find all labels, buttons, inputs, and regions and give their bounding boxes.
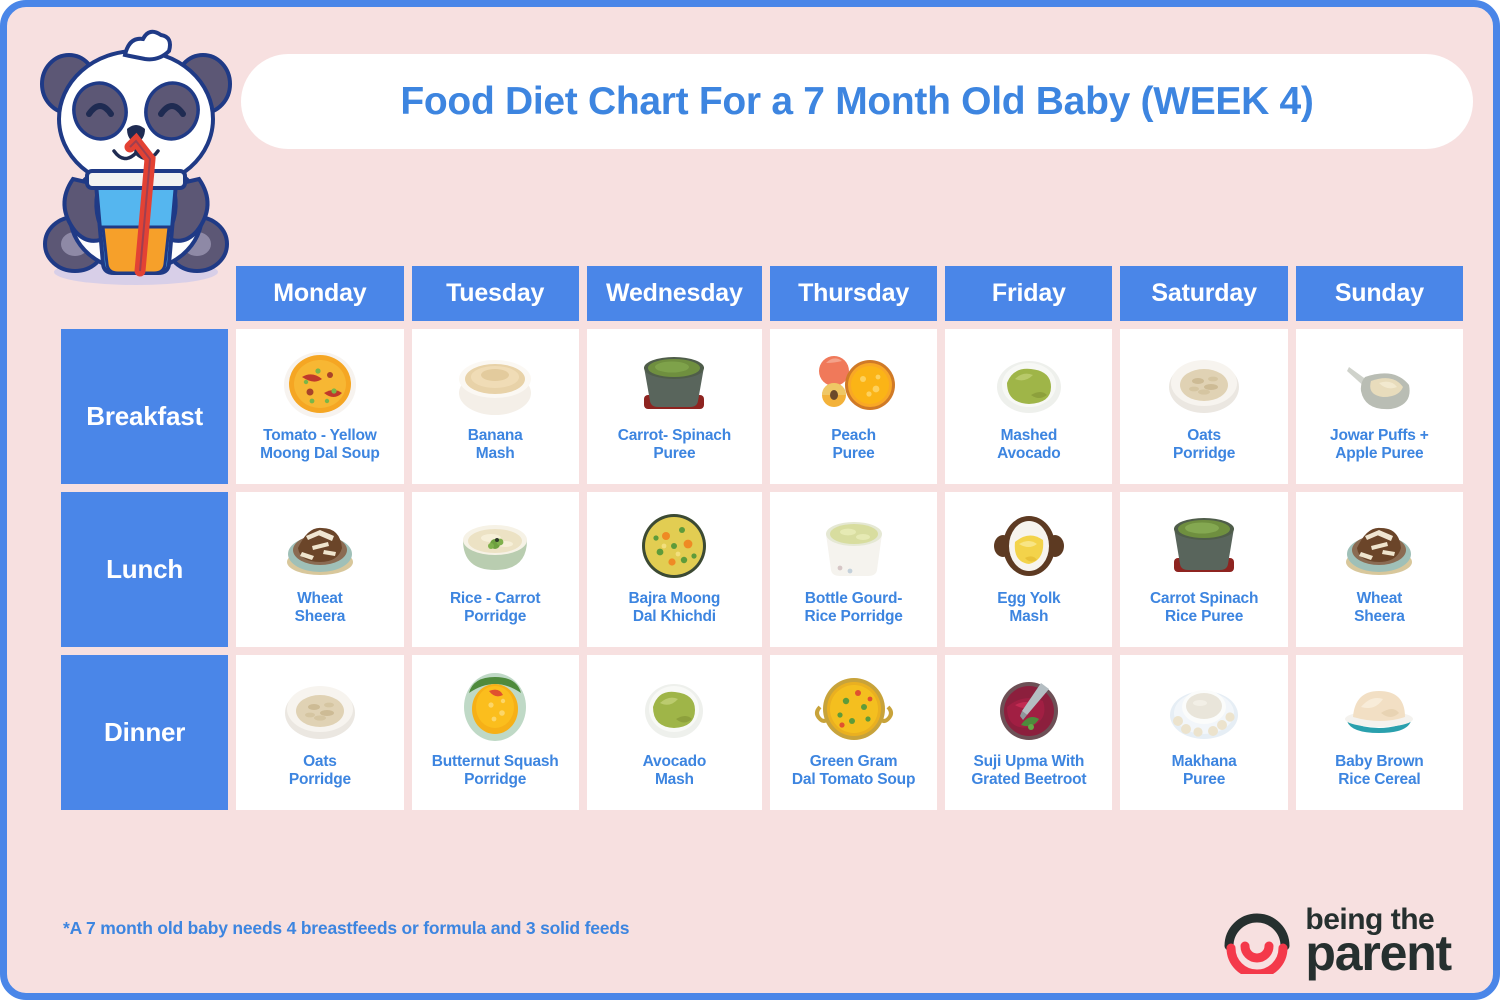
- makhana-puree-bowl-icon: [1156, 663, 1252, 751]
- footnote-text: *A 7 month old baby needs 4 breastfeeds …: [63, 918, 629, 939]
- oats-porridge-bowl-icon: [272, 663, 368, 751]
- meal-label: Peach Puree: [831, 427, 876, 464]
- column-header-label: Tuesday: [446, 279, 544, 308]
- meal-cell-breakfast-monday: Tomato - Yellow Moong Dal Soup: [236, 329, 403, 484]
- meal-cell-dinner-thursday: Green Gram Dal Tomato Soup: [770, 655, 937, 810]
- page-title-bar: Food Diet Chart For a 7 Month Old Baby (…: [241, 54, 1473, 149]
- row-header-label: Lunch: [106, 554, 183, 585]
- meal-label: Jowar Puffs + Apple Puree: [1330, 427, 1429, 464]
- meal-cell-lunch-sunday: Wheat Sheera: [1296, 492, 1463, 647]
- wheat-sheera-bowl-icon: [1331, 500, 1427, 588]
- column-header-label: Friday: [992, 279, 1066, 308]
- meal-label: Baby Brown Rice Cereal: [1335, 753, 1423, 790]
- meal-cell-breakfast-friday: Mashed Avocado: [945, 329, 1112, 484]
- table-header-row: Monday Tuesday Wednesday Thursday Friday…: [61, 266, 1463, 321]
- bottle-gourd-rice-porridge-bowl-icon: [806, 500, 902, 588]
- meal-cell-lunch-saturday: Carrot Spinach Rice Puree: [1120, 492, 1287, 647]
- meal-label: Wheat Sheera: [1354, 590, 1405, 627]
- meal-label: Makhana Puree: [1172, 753, 1237, 790]
- meal-label: Mashed Avocado: [997, 427, 1060, 464]
- avocado-mash-bowl-icon: [626, 663, 722, 751]
- column-header-saturday: Saturday: [1120, 266, 1287, 321]
- suji-upma-beetroot-bowl-icon: [981, 663, 1077, 751]
- meal-label: Oats Porridge: [1173, 427, 1235, 464]
- table-row-breakfast: Breakfast Tomato - Yellow Moong Dal Soup…: [61, 329, 1463, 484]
- meal-label: Bottle Gourd- Rice Porridge: [804, 590, 902, 627]
- meal-label: Oats Porridge: [289, 753, 351, 790]
- meal-label: Green Gram Dal Tomato Soup: [792, 753, 915, 790]
- row-header-label: Breakfast: [86, 401, 203, 432]
- meal-cell-breakfast-wednesday: Carrot- Spinach Puree: [587, 329, 762, 484]
- meal-cell-lunch-thursday: Bottle Gourd- Rice Porridge: [770, 492, 937, 647]
- meal-cell-lunch-monday: Wheat Sheera: [236, 492, 403, 647]
- column-header-monday: Monday: [236, 266, 403, 321]
- wheat-sheera-bowl-icon: [272, 500, 368, 588]
- column-header-label: Monday: [273, 279, 366, 308]
- meal-cell-dinner-sunday: Baby Brown Rice Cereal: [1296, 655, 1463, 810]
- meal-label: Egg Yolk Mash: [997, 590, 1060, 627]
- meal-cell-breakfast-tuesday: Banana Mash: [412, 329, 579, 484]
- carrot-spinach-rice-puree-bowl-icon: [1156, 500, 1252, 588]
- meal-label: Banana Mash: [468, 427, 523, 464]
- column-header-wednesday: Wednesday: [587, 266, 762, 321]
- meal-cell-lunch-wednesday: Bajra Moong Dal Khichdi: [587, 492, 762, 647]
- row-header-breakfast: Breakfast: [61, 329, 228, 484]
- meal-label: Tomato - Yellow Moong Dal Soup: [260, 427, 379, 464]
- column-header-sunday: Sunday: [1296, 266, 1463, 321]
- column-header-label: Thursday: [798, 279, 909, 308]
- page-title: Food Diet Chart For a 7 Month Old Baby (…: [400, 80, 1313, 124]
- meal-cell-breakfast-thursday: Peach Puree: [770, 329, 937, 484]
- table-row-dinner: Dinner Oats Porridge Butternut Squash Po…: [61, 655, 1463, 810]
- meal-label: Butternut Squash Porridge: [432, 753, 559, 790]
- panda-mascot-icon: [29, 29, 244, 289]
- jowar-puffs-apple-puree-spoon-icon: [1331, 337, 1427, 425]
- baby-brown-rice-cereal-bowl-icon: [1331, 663, 1427, 751]
- row-header-dinner: Dinner: [61, 655, 228, 810]
- meal-label: Rice - Carrot Porridge: [450, 590, 540, 627]
- meal-cell-lunch-friday: Egg Yolk Mash: [945, 492, 1112, 647]
- peach-puree-bowl-icon: [806, 337, 902, 425]
- diet-table: Monday Tuesday Wednesday Thursday Friday…: [61, 266, 1463, 810]
- column-header-friday: Friday: [945, 266, 1112, 321]
- meal-label: Suji Upma With Grated Beetroot: [971, 753, 1086, 790]
- meal-label: Carrot- Spinach Puree: [618, 427, 731, 464]
- meal-cell-dinner-tuesday: Butternut Squash Porridge: [412, 655, 579, 810]
- diet-chart-poster: Food Diet Chart For a 7 Month Old Baby (…: [0, 0, 1500, 1000]
- butternut-squash-porridge-bowl-icon: [447, 663, 543, 751]
- carrot-spinach-puree-bowl-icon: [626, 337, 722, 425]
- smile-logo-icon: [1221, 902, 1293, 974]
- meal-cell-dinner-saturday: Makhana Puree: [1120, 655, 1287, 810]
- row-header-label: Dinner: [104, 717, 185, 748]
- green-gram-dal-tomato-soup-pot-icon: [806, 663, 902, 751]
- table-row-lunch: Lunch Wheat Sheera Rice - Carrot Porridg…: [61, 492, 1463, 647]
- meal-label: Wheat Sheera: [295, 590, 346, 627]
- oats-porridge-bowl-icon: [1156, 337, 1252, 425]
- meal-cell-dinner-monday: Oats Porridge: [236, 655, 403, 810]
- column-header-label: Sunday: [1335, 279, 1424, 308]
- rice-carrot-porridge-bowl-icon: [447, 500, 543, 588]
- meal-label: Carrot Spinach Rice Puree: [1150, 590, 1258, 627]
- banana-mash-bowl-icon: [447, 337, 543, 425]
- meal-cell-dinner-wednesday: Avocado Mash: [587, 655, 762, 810]
- brand-logo: being the parent: [1221, 902, 1451, 974]
- meal-cell-breakfast-saturday: Oats Porridge: [1120, 329, 1287, 484]
- row-header-lunch: Lunch: [61, 492, 228, 647]
- meal-label: Avocado Mash: [643, 753, 706, 790]
- tomato-moong-dal-soup-bowl-icon: [272, 337, 368, 425]
- column-header-tuesday: Tuesday: [412, 266, 579, 321]
- meal-cell-breakfast-sunday: Jowar Puffs + Apple Puree: [1296, 329, 1463, 484]
- mashed-avocado-bowl-icon: [981, 337, 1077, 425]
- bajra-moong-dal-khichdi-bowl-icon: [626, 500, 722, 588]
- meal-cell-dinner-friday: Suji Upma With Grated Beetroot: [945, 655, 1112, 810]
- column-header-thursday: Thursday: [770, 266, 937, 321]
- table-corner-spacer: [61, 266, 228, 321]
- column-header-label: Saturday: [1151, 279, 1256, 308]
- meal-label: Bajra Moong Dal Khichdi: [629, 590, 721, 627]
- column-header-label: Wednesday: [606, 279, 743, 308]
- meal-cell-lunch-tuesday: Rice - Carrot Porridge: [412, 492, 579, 647]
- logo-line-parent: parent: [1305, 933, 1451, 974]
- egg-yolk-mash-bowl-icon: [981, 500, 1077, 588]
